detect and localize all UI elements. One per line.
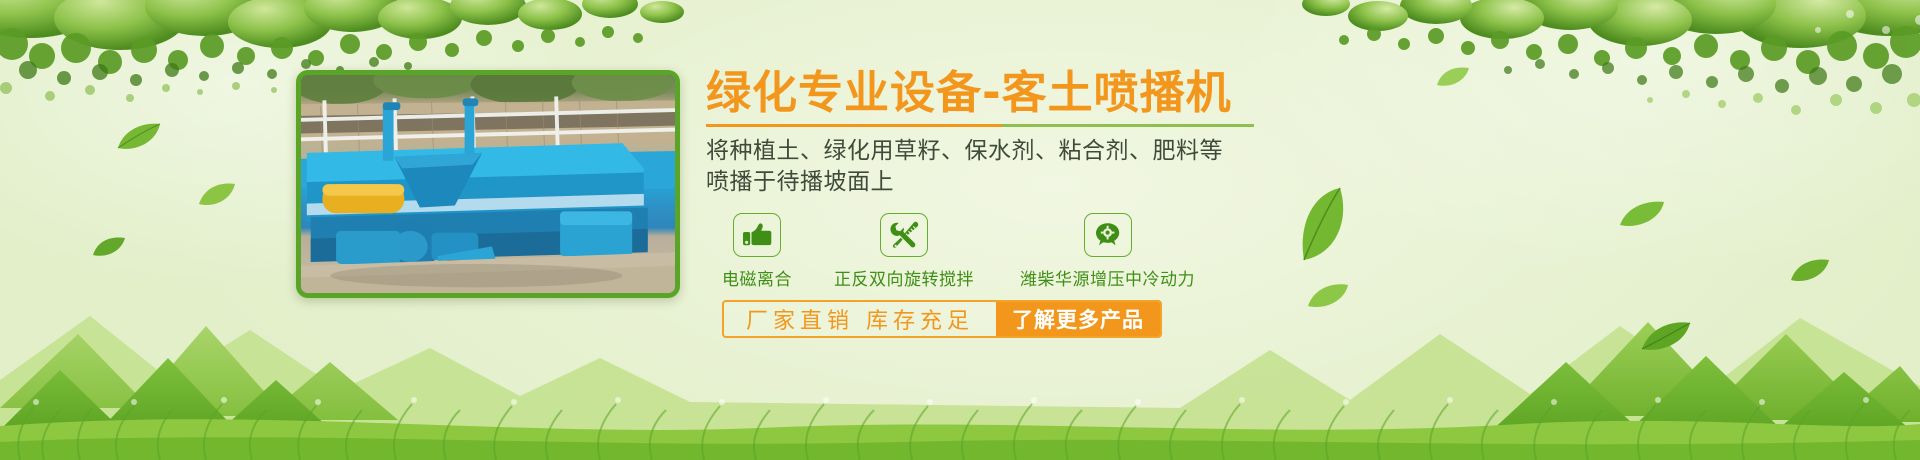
subtitle-line-2: 喷播于待播坡面上: [706, 167, 1506, 197]
cta-row: 厂家直销 库存充足 了解更多产品: [722, 300, 1162, 338]
feature-item-bidirectional-mixing[interactable]: 正反双向旋转搅拌: [834, 213, 974, 290]
title-divider: [706, 124, 1254, 127]
floating-leaf-icon: [92, 236, 126, 258]
floating-leaf-icon: [1618, 200, 1666, 230]
floating-leaf-icon: [1640, 320, 1692, 354]
banner-stage: 绿化专业设备-客土喷播机 将种植土、绿化用草籽、保水剂、粘合剂、肥料等 喷播于待…: [0, 0, 1920, 460]
product-photo[interactable]: [296, 70, 680, 298]
feature-icon-box: [733, 213, 781, 257]
learn-more-button[interactable]: 了解更多产品: [996, 302, 1160, 336]
wrench-screwdriver-icon: [889, 221, 919, 249]
banner-content: 绿化专业设备-客土喷播机 将种植土、绿化用草籽、保水剂、粘合剂、肥料等 喷播于待…: [706, 68, 1506, 338]
subtitle-line-1: 将种植土、绿化用草籽、保水剂、粘合剂、肥料等: [706, 136, 1506, 166]
floating-leaf-icon: [1790, 258, 1830, 284]
feature-label: 潍柴华源增压中冷动力: [1020, 265, 1195, 290]
thumbs-up-icon: [742, 222, 772, 248]
cta-tagline: 厂家直销 库存充足: [724, 302, 996, 336]
floating-leaf-icon: [116, 122, 162, 152]
floating-leaf-icon: [198, 182, 236, 208]
engine-gear-icon: [1093, 221, 1123, 249]
feature-label: 正反双向旋转搅拌: [834, 265, 974, 290]
feature-item-electromagnetic-clutch[interactable]: 电磁离合: [722, 213, 792, 290]
feature-item-weichai-power[interactable]: 潍柴华源增压中冷动力: [1020, 213, 1195, 290]
grass-band: [0, 340, 1920, 460]
feature-label: 电磁离合: [722, 265, 792, 290]
feature-icon-box: [1084, 213, 1132, 257]
page-title: 绿化专业设备-客土喷播机: [706, 68, 1506, 118]
feature-list: 电磁离合: [706, 213, 1506, 290]
product-photo-machine-overlay: [301, 75, 675, 297]
feature-icon-box: [880, 213, 928, 257]
